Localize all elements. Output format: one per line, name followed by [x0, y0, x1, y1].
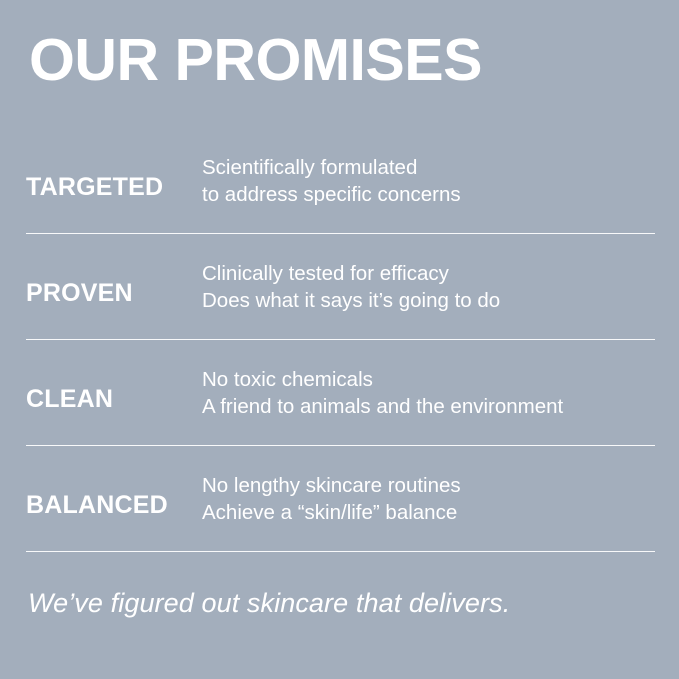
promise-description-line-1: No lengthy skincare routines: [202, 472, 659, 499]
promise-description-line-2: to address specific concerns: [202, 181, 659, 208]
promises-list: TARGETED Scientifically formulated to ad…: [0, 128, 679, 552]
row-divider: [26, 551, 655, 552]
promise-description-line-2: Achieve a “skin/life” balance: [202, 499, 659, 526]
promise-description-line-2: Does what it says it’s going to do: [202, 287, 659, 314]
promise-description-line-1: Clinically tested for efficacy: [202, 260, 659, 287]
promises-poster: OUR PROMISES TARGETED Scientifically for…: [0, 0, 679, 679]
promise-row-balanced: BALANCED No lengthy skincare routines Ac…: [0, 446, 679, 552]
promise-row-targeted: TARGETED Scientifically formulated to ad…: [0, 128, 679, 234]
page-title: OUR PROMISES: [29, 30, 482, 90]
promise-description-line-2: A friend to animals and the environment: [202, 393, 659, 420]
promise-description-balanced: No lengthy skincare routines Achieve a “…: [202, 472, 679, 526]
promise-row-content: TARGETED Scientifically formulated to ad…: [0, 128, 679, 233]
promise-description-proven: Clinically tested for efficacy Does what…: [202, 260, 679, 314]
promise-description-targeted: Scientifically formulated to address spe…: [202, 154, 679, 208]
footer-tagline: We’ve figured out skincare that delivers…: [28, 585, 510, 621]
promise-row-content: CLEAN No toxic chemicals A friend to ani…: [0, 340, 679, 445]
promise-row-content: PROVEN Clinically tested for efficacy Do…: [0, 234, 679, 339]
promise-row-clean: CLEAN No toxic chemicals A friend to ani…: [0, 340, 679, 446]
promise-description-line-1: No toxic chemicals: [202, 366, 659, 393]
promise-label-clean: CLEAN: [0, 385, 202, 413]
promise-label-balanced: BALANCED: [0, 491, 202, 519]
promise-description-line-1: Scientifically formulated: [202, 154, 659, 181]
promise-label-targeted: TARGETED: [0, 173, 202, 201]
promise-row-proven: PROVEN Clinically tested for efficacy Do…: [0, 234, 679, 340]
promise-description-clean: No toxic chemicals A friend to animals a…: [202, 366, 679, 420]
promise-label-proven: PROVEN: [0, 279, 202, 307]
promise-row-content: BALANCED No lengthy skincare routines Ac…: [0, 446, 679, 551]
